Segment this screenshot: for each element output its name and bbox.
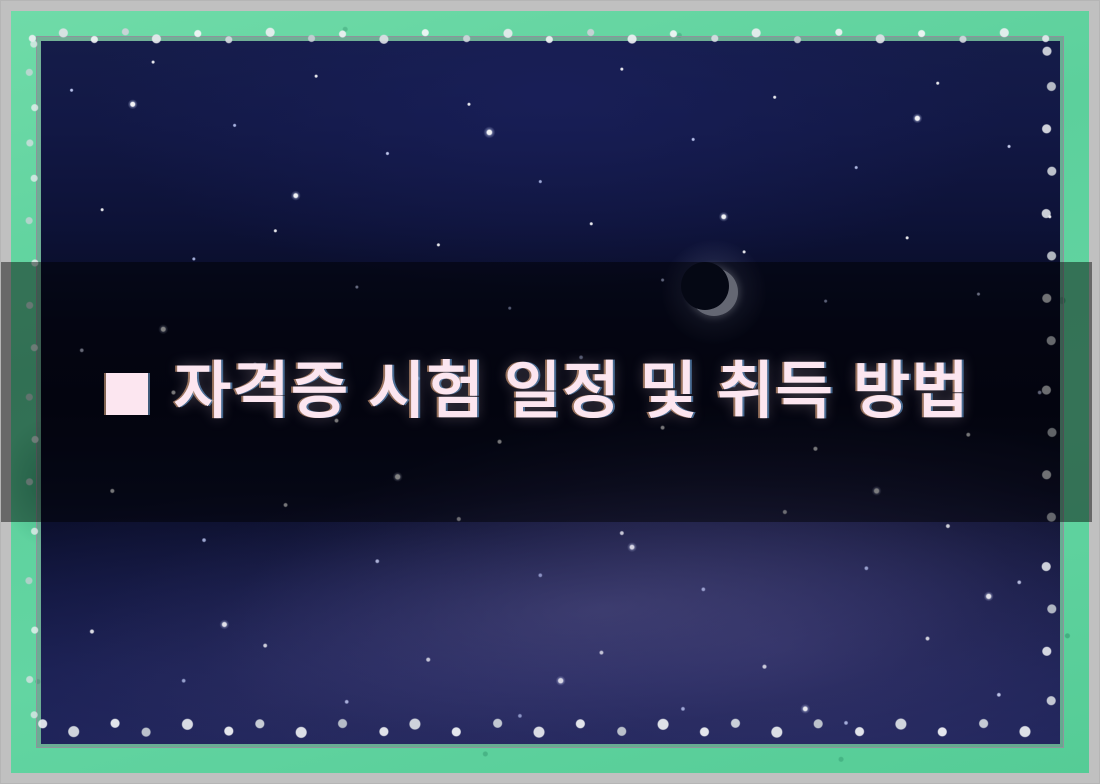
slide-title-text: 자격증 시험 일정 및 취득 방법 (174, 361, 970, 423)
bullet-square-icon (106, 373, 148, 415)
slide-canvas: 자격증 시험 일정 및 취득 방법 (0, 0, 1100, 784)
slide-title: 자격증 시험 일정 및 취득 방법 (0, 262, 1092, 522)
